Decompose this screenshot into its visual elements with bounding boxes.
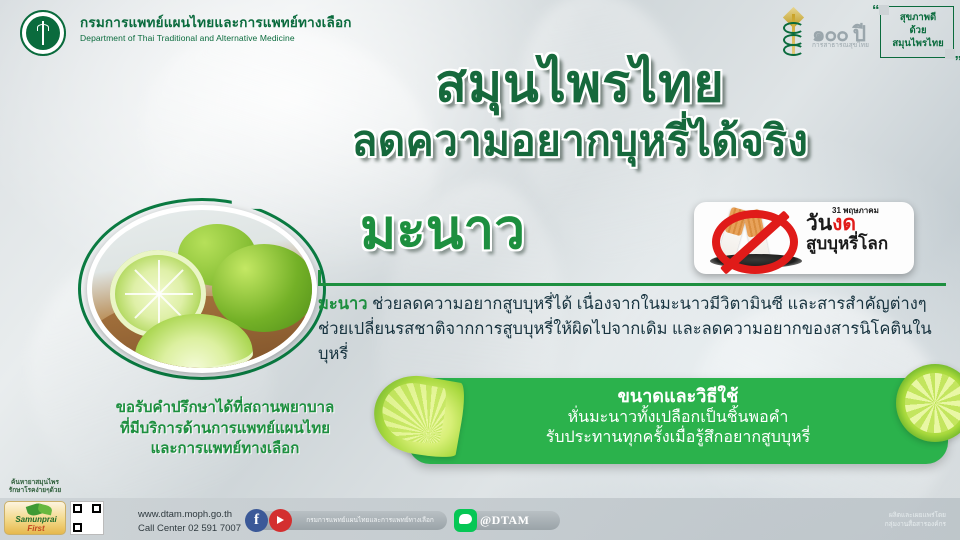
badge-word-ngod: งด: [832, 212, 856, 235]
line-icon[interactable]: [454, 509, 477, 532]
body-lead-word: มะนาว: [318, 295, 368, 313]
section-divider: [318, 283, 946, 286]
title-line-1: สมุนไพรไทย: [250, 58, 910, 110]
contact-info: www.dtam.moph.go.th Call Center 02 591 7…: [138, 508, 241, 536]
infographic-poster: กรมการแพทย์แผนไทยและการแพทย์ทางเลือก Dep…: [0, 0, 960, 540]
samunprai-note-line-1: ค้นหายาสมุนไพร: [4, 479, 66, 487]
badge-line-3: สูบบุหรี่โลก: [806, 235, 910, 252]
slogan-line-3: สมุนไพรไทย: [881, 38, 955, 51]
dosage-panel: ขนาดและวิธีใช้ หั่นมะนาวทั้งเปลือกเป็นชิ…: [408, 378, 948, 464]
department-name-english: Department of Thai Traditional and Alter…: [80, 33, 352, 43]
samunprai-logo-line-1: Samunprai: [5, 515, 66, 524]
dosage-line-2: รับประทานทุกครั้งเมื่อรู้สึกอยากสูบบุหรี…: [468, 428, 888, 449]
herb-name-heading: มะนาว: [360, 202, 525, 257]
quote-close-mark: ”: [955, 54, 960, 69]
production-credit: ผลิตและเผยแพร่โดย กลุ่มงานสื่อสารองค์กร: [826, 512, 946, 530]
line-account-id: @DTAM: [480, 513, 529, 528]
slogan-line-1: สุขภาพดี: [881, 12, 955, 25]
qr-code-icon[interactable]: [70, 501, 104, 535]
samunprai-app-note: ค้นหายาสมุนไพร รักษาโรคง่ายๆด้วย: [4, 479, 66, 495]
world-no-tobacco-day-badge: 31 พฤษภาคม วันงด สูบบุหรี่โลก: [694, 202, 914, 274]
badge-word-wan: วัน: [806, 212, 832, 235]
body-rest-text: ช่วยลดความอยากสูบบุหรี่ได้ เนื่องจากในมะ…: [318, 295, 932, 363]
consultation-line-1: ขอรับคำปรึกษาได้ที่สถานพยาบาล: [60, 398, 390, 419]
consultation-line-2: ที่มีบริการด้านการแพทย์แผนไทย: [60, 419, 390, 440]
poster-title: สมุนไพรไทย ลดความอยากบุหรี่ได้จริง: [250, 58, 910, 162]
line-account-pill[interactable]: @DTAM: [456, 511, 560, 530]
social-media-pill[interactable]: f กรมการแพทย์แผนไทยและการแพทย์ทางเลือก: [247, 511, 447, 531]
slogan-quote-box: “ ” สุขภาพดี ด้วย สมุนไพรไทย: [880, 6, 954, 58]
social-media-label: กรมการแพทย์แผนไทยและการแพทย์ทางเลือก: [297, 515, 443, 525]
facebook-icon[interactable]: f: [245, 509, 268, 532]
title-line-2: ลดความอยากบุหรี่ได้จริง: [250, 120, 910, 162]
department-name-thai: กรมการแพทย์แผนไทยและการแพทย์ทางเลือก: [80, 16, 352, 31]
lime-photo: [78, 198, 326, 380]
credit-line-1: ผลิตและเผยแพร่โดย: [826, 512, 946, 521]
lime-slice-icon: [896, 364, 960, 442]
body-paragraph: มะนาว ช่วยลดความอยากสูบบุหรี่ได้ เนื่องจ…: [318, 292, 958, 367]
consultation-line-3: และการแพทย์ทางเลือก: [60, 439, 390, 460]
dosage-panel-title: ขนาดและวิธีใช้: [468, 385, 888, 408]
slogan-line-2: ด้วย: [881, 25, 955, 38]
dosage-line-1: หั่นมะนาวทั้งเปลือกเป็นชิ้นพอคำ: [468, 408, 888, 429]
youtube-icon[interactable]: [269, 509, 292, 532]
samunprai-note-line-2: รักษาโรคง่ายๆด้วย: [4, 487, 66, 495]
department-name-block: กรมการแพทย์แผนไทยและการแพทย์ทางเลือก Dep…: [80, 16, 352, 43]
quote-open-mark: “: [872, 3, 880, 18]
credit-line-2: กลุ่มงานสื่อสารองค์กร: [826, 521, 946, 530]
no-smoking-cigarette-icon: [708, 208, 804, 270]
caduceus-centenary-icon: [780, 10, 808, 56]
samunprai-logo-line-2: First: [5, 524, 66, 533]
call-center-number: Call Center 02 591 7007: [138, 522, 241, 536]
centenary-subtitle: การสาธารณสุขไทย: [812, 40, 869, 50]
website-url[interactable]: www.dtam.moph.go.th: [138, 508, 241, 522]
samunprai-first-logo[interactable]: Samunprai First: [4, 501, 66, 535]
lime-photo-image: [92, 210, 312, 368]
consultation-note: ขอรับคำปรึกษาได้ที่สถานพยาบาล ที่มีบริกา…: [60, 398, 390, 460]
ministry-of-public-health-seal-icon: [12, 10, 74, 56]
